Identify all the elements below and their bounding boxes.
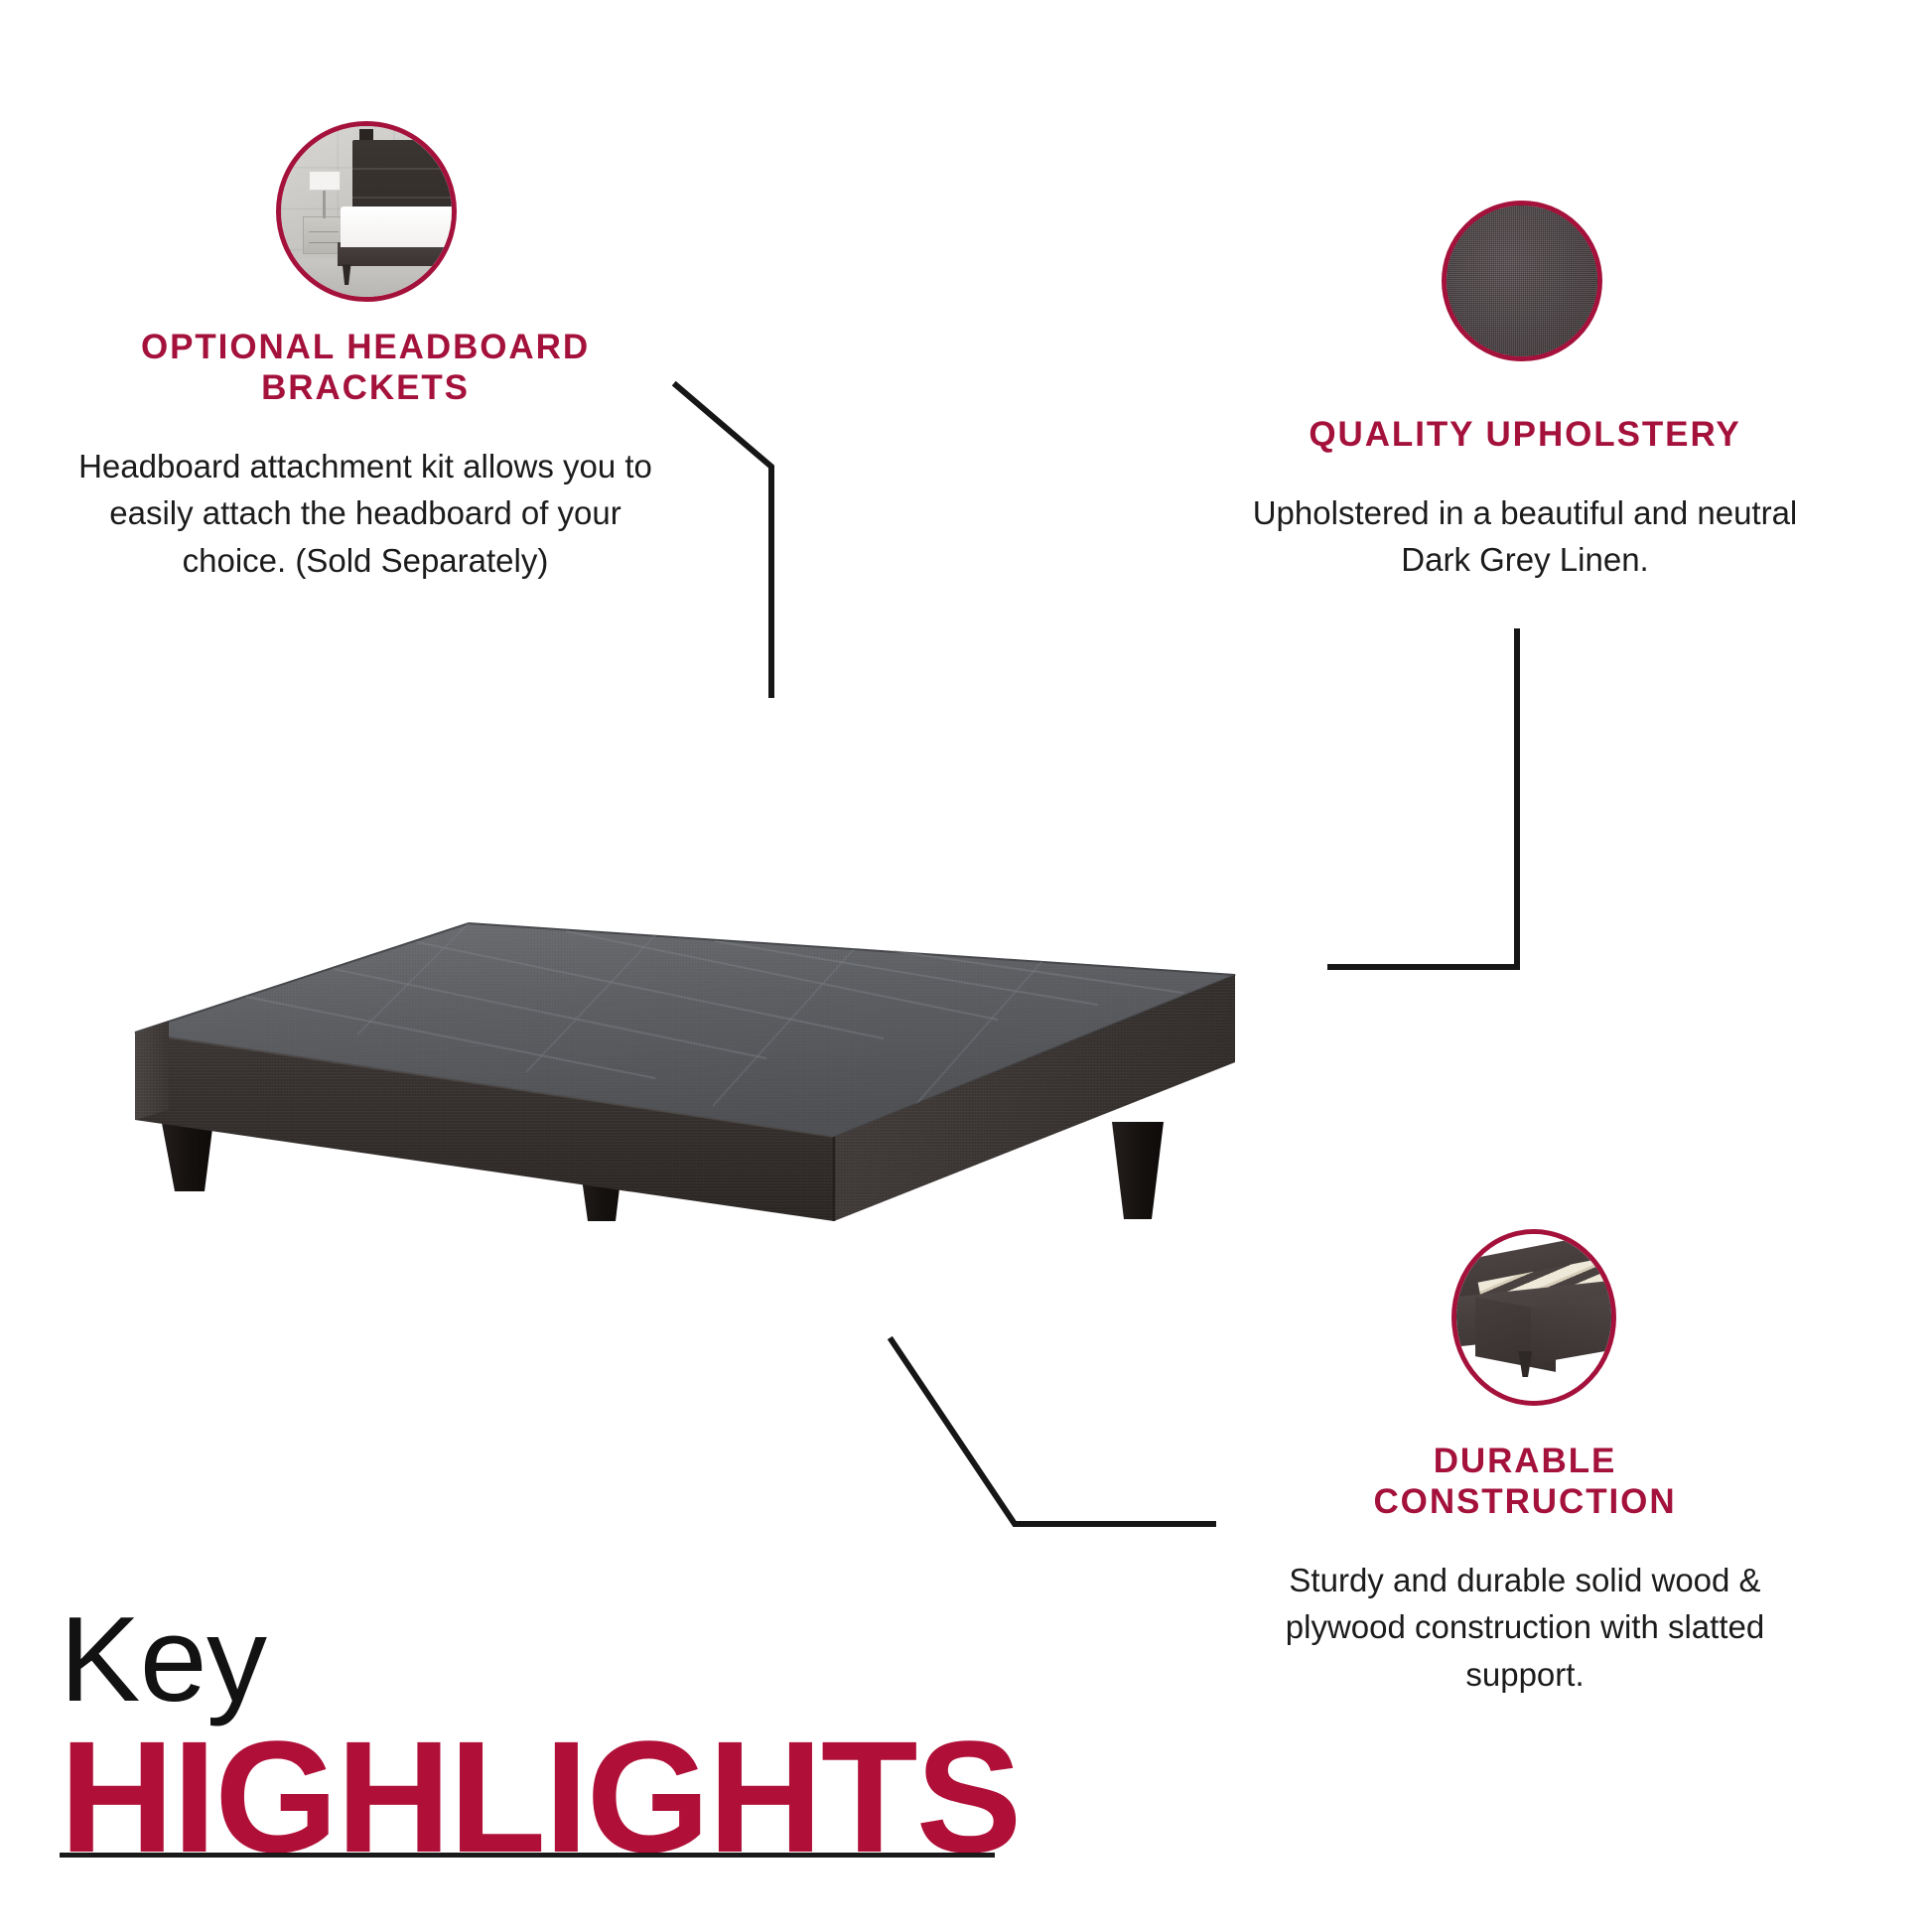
title-line-key: Key	[60, 1600, 1013, 1720]
lamp-stem	[323, 191, 326, 218]
headboard-brackets-badge	[276, 121, 457, 302]
connector-headboard-brackets	[676, 385, 771, 695]
key-highlights-title-block: Key HIGHLIGHTS	[60, 1600, 1013, 1872]
feature-body-quality-upholstery: Upholstered in a beautiful and neutral D…	[1239, 489, 1811, 584]
infographic-canvas: OPTIONAL HEADBOARD BRACKETS Headboard at…	[0, 0, 1932, 1932]
feature-body-durable-construction: Sturdy and durable solid wood & plywood …	[1239, 1557, 1811, 1699]
lamp-shade	[309, 171, 342, 192]
feature-body-headboard-brackets: Headboard attachment kit allows you to e…	[77, 443, 653, 585]
connector-quality-upholstery	[1330, 631, 1517, 967]
feature-title-quality-upholstery: QUALITY UPHOLSTERY	[1239, 415, 1811, 456]
feature-title-headboard-brackets: OPTIONAL HEADBOARD BRACKETS	[132, 328, 599, 409]
linen-texture	[1447, 206, 1597, 356]
feature-optional-headboard-brackets: OPTIONAL HEADBOARD BRACKETS Headboard at…	[77, 328, 653, 584]
feature-quality-upholstery: QUALITY UPHOLSTERY Upholstered in a beau…	[1239, 415, 1811, 584]
linen-fabric-swatch-icon	[1447, 206, 1597, 356]
slatted-frame-corner-photo-icon	[1456, 1234, 1611, 1401]
mattress	[341, 207, 452, 247]
durable-construction-badge	[1451, 1229, 1616, 1406]
quality-upholstery-badge	[1442, 201, 1602, 361]
feature-title-durable-construction: DURABLE CONSTRUCTION	[1361, 1442, 1689, 1523]
connector-durable-construction	[892, 1340, 1213, 1524]
bed-base-illustration	[99, 894, 1251, 1291]
title-underline-rule	[60, 1853, 995, 1858]
bed-left-corner	[135, 1021, 169, 1120]
product-image-bed-base	[99, 894, 1251, 1291]
bedroom-headboard-photo-icon	[281, 126, 452, 297]
title-line-highlights: HIGHLIGHTS	[60, 1722, 1013, 1872]
feature-durable-construction: DURABLE CONSTRUCTION Sturdy and durable …	[1239, 1442, 1811, 1698]
